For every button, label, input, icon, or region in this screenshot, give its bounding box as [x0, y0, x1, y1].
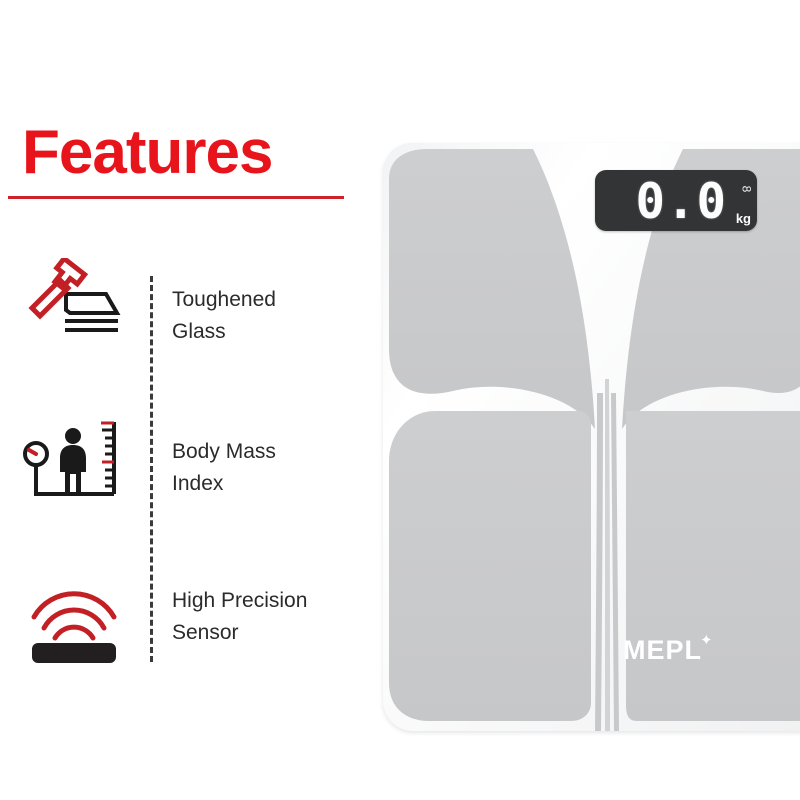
lcd-unit-label: kg — [736, 212, 751, 225]
brand-logo-mepl: MEPL — [623, 637, 702, 664]
precision-sensor-icon — [18, 575, 134, 671]
lcd-weight-readout: 0.0 — [635, 173, 727, 230]
body-mass-index-icon — [18, 412, 134, 508]
hammer-glass-icon — [18, 258, 134, 354]
features-panel: Features Toughened Glass — [0, 0, 370, 800]
feature-label-body-mass-index: Body Mass Index — [172, 436, 362, 500]
lcd-display-panel: 0.0 8 kg — [595, 170, 757, 231]
feature-label-high-precision-sensor: High Precision Sensor — [172, 585, 362, 649]
feature-vertical-dashed-divider — [150, 276, 153, 662]
scale-petal-pattern — [383, 143, 800, 731]
feature-label-toughened-glass: Toughened Glass — [172, 284, 362, 348]
page-title: Features — [22, 122, 272, 184]
brand-logo-accent-icon: ✦ — [700, 633, 713, 648]
digital-weighing-scale: 0.0 8 kg MEPL ✦ — [383, 143, 800, 731]
title-underline-divider — [8, 196, 344, 199]
lcd-battery-indicator-icon: 8 — [741, 186, 753, 193]
